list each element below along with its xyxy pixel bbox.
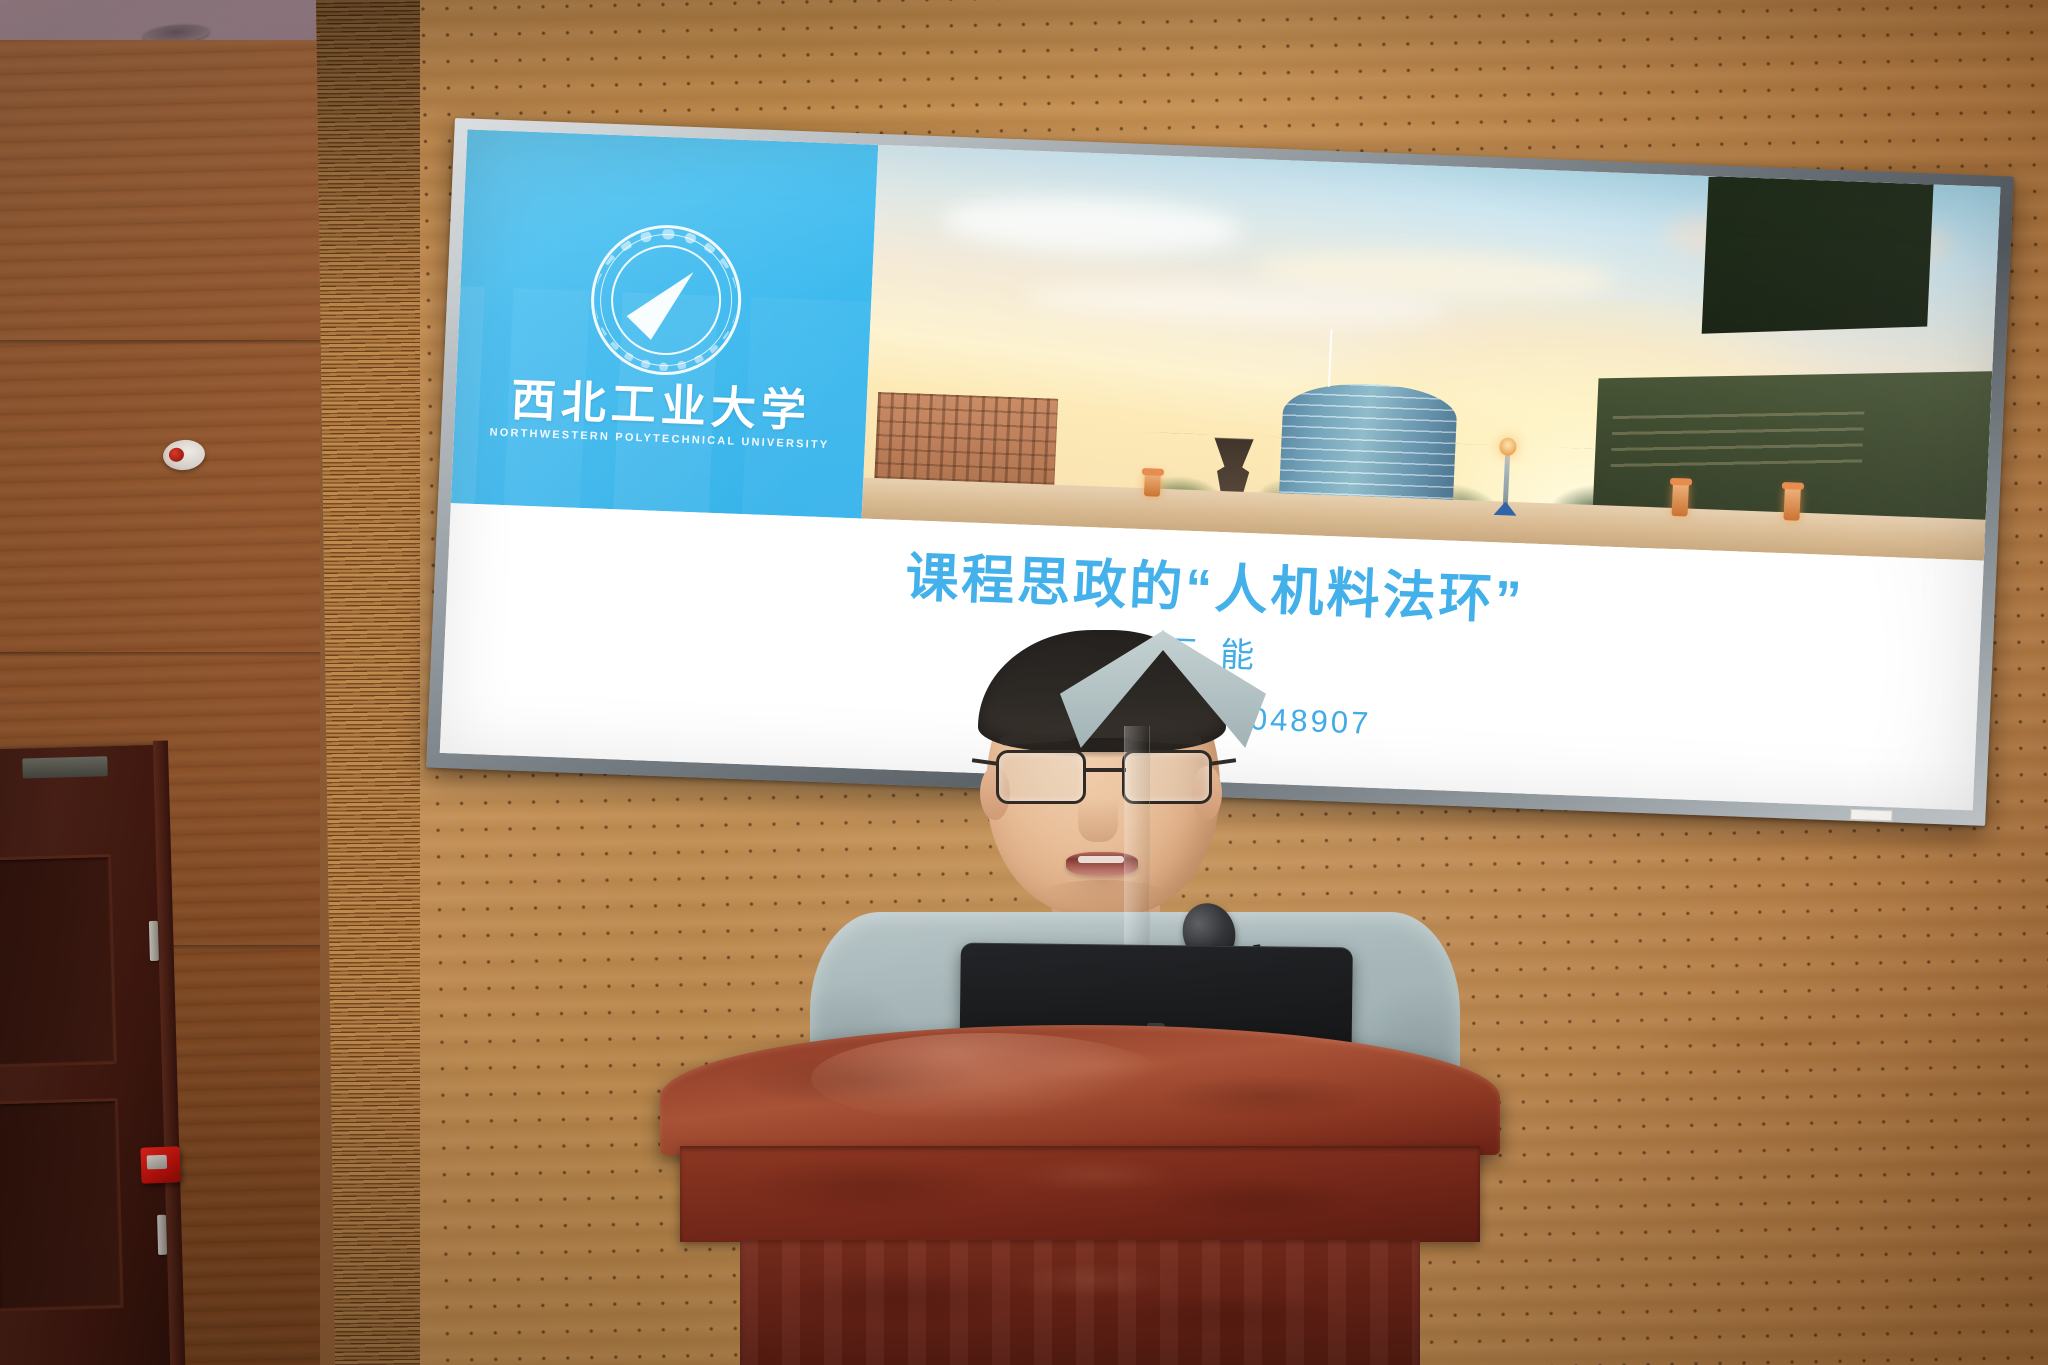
door-closer-plate (22, 756, 108, 778)
smoke-detector-led (168, 447, 184, 462)
door-panel-upper (0, 854, 117, 1067)
plaza-bollard-2 (1783, 486, 1801, 521)
podium-apron (680, 1146, 1480, 1242)
glasses-bridge (1084, 768, 1126, 772)
door-hinge-upper (149, 921, 159, 961)
door-hinge-lower (157, 1215, 167, 1255)
plaza-bollard-3 (1144, 472, 1161, 497)
campus-building-dark (1702, 169, 1934, 333)
lecture-hall-scene: 西北工业大学 NORTHWESTERN POLYTECHNICAL UNIVER… (0, 0, 2048, 1365)
podium-column (740, 1240, 1420, 1365)
plaza-bollard-1 (1671, 482, 1689, 517)
university-crest-icon (587, 222, 744, 377)
shirt-placket (1124, 726, 1150, 961)
door-panel-lower (0, 1098, 124, 1311)
pull-station-plate (147, 1155, 167, 1170)
slide-header-band: 西北工业大学 NORTHWESTERN POLYTECHNICAL UNIVER… (451, 129, 2001, 561)
presenter-nose (1078, 798, 1118, 842)
campus-photo (862, 145, 2001, 561)
door[interactable] (0, 745, 173, 1365)
fire-alarm-pull-station[interactable] (140, 1146, 180, 1183)
glasses-lens-left (996, 750, 1086, 804)
university-logo-panel: 西北工业大学 NORTHWESTERN POLYTECHNICAL UNIVER… (451, 129, 878, 518)
bezel-sticker-label (1850, 809, 1892, 822)
